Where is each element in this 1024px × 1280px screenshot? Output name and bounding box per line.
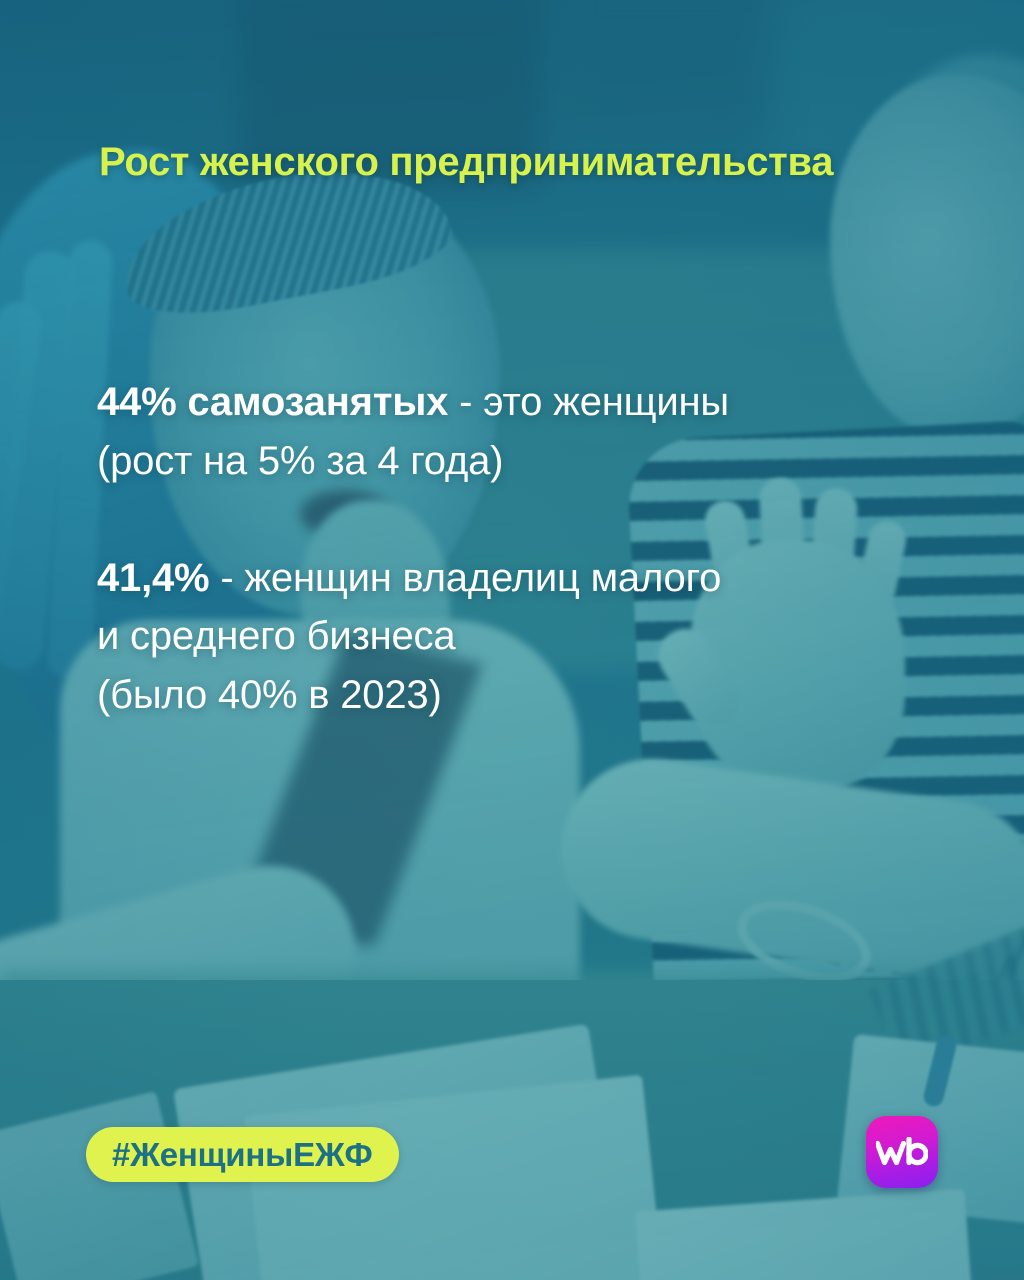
stat-note: (было 40% в 2023) (97, 673, 442, 717)
page-title: Рост женского предпринимательства (99, 140, 833, 185)
stats-list: 44% самозанятых - это женщины (рост на 5… (97, 373, 977, 725)
stat-line: 41,4% - женщин владелиц малого (97, 549, 977, 608)
stat-text: - это женщины (448, 380, 729, 424)
stat-note: (рост на 5% за 4 года) (97, 439, 503, 483)
wb-logo (866, 1116, 938, 1188)
wb-logo-glyph (876, 1137, 928, 1167)
stat-value: 41,4% (97, 556, 209, 600)
stat-block-self-employed: 44% самозанятых - это женщины (рост на 5… (97, 373, 977, 491)
hashtag-badge: #ЖенщиныЕЖФ (86, 1127, 399, 1182)
stat-text: - женщин владелиц малого (209, 556, 721, 600)
stat-block-sme-owners: 41,4% - женщин владелиц малого и среднег… (97, 549, 977, 725)
card-content: Рост женского предпринимательства 44% са… (0, 0, 1024, 1280)
stat-line: (было 40% в 2023) (97, 666, 977, 725)
stat-line: и среднего бизнеса (97, 607, 977, 666)
stat-line: 44% самозанятых - это женщины (97, 373, 977, 432)
infographic-card: Рост женского предпринимательства 44% са… (0, 0, 1024, 1280)
stat-value: 44% самозанятых (97, 380, 448, 424)
stat-line: (рост на 5% за 4 года) (97, 432, 977, 491)
stat-text: и среднего бизнеса (97, 614, 455, 658)
